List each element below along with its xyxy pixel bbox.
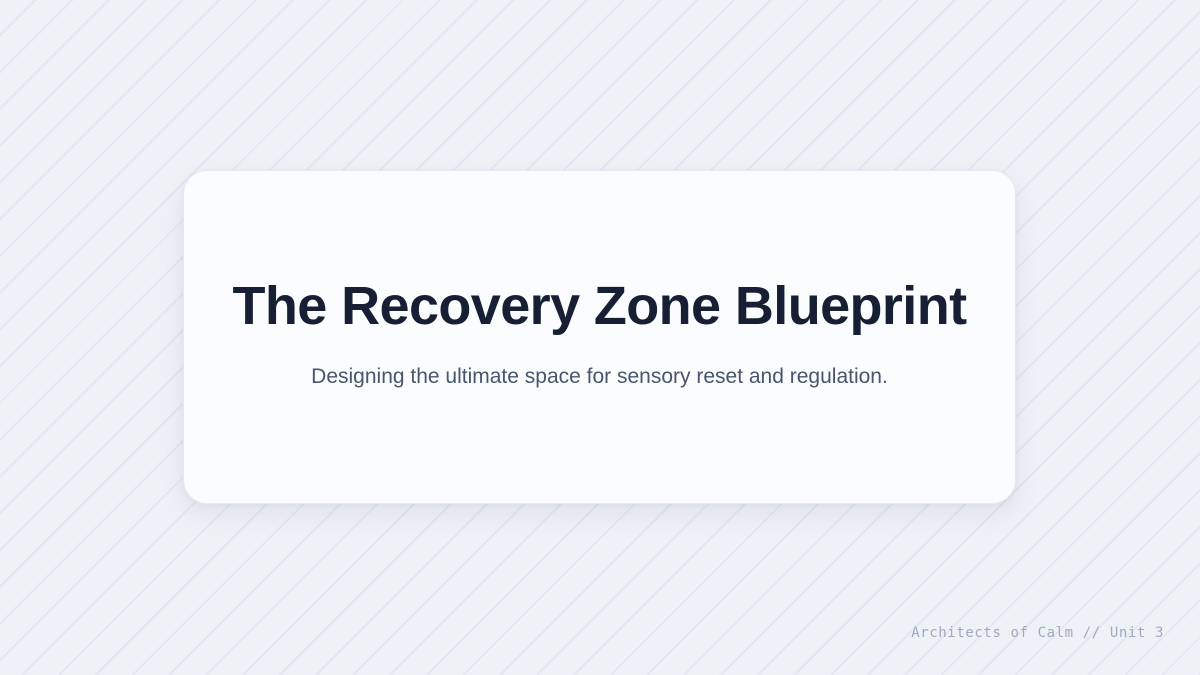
page-subtitle: Designing the ultimate space for sensory… <box>311 357 888 397</box>
footer-caption: Architects of Calm // Unit 3 <box>911 625 1164 641</box>
hero-card: The Recovery Zone Blueprint Designing th… <box>183 170 1016 504</box>
page-title: The Recovery Zone Blueprint <box>233 277 967 335</box>
slide-canvas: The Recovery Zone Blueprint Designing th… <box>0 0 1200 675</box>
